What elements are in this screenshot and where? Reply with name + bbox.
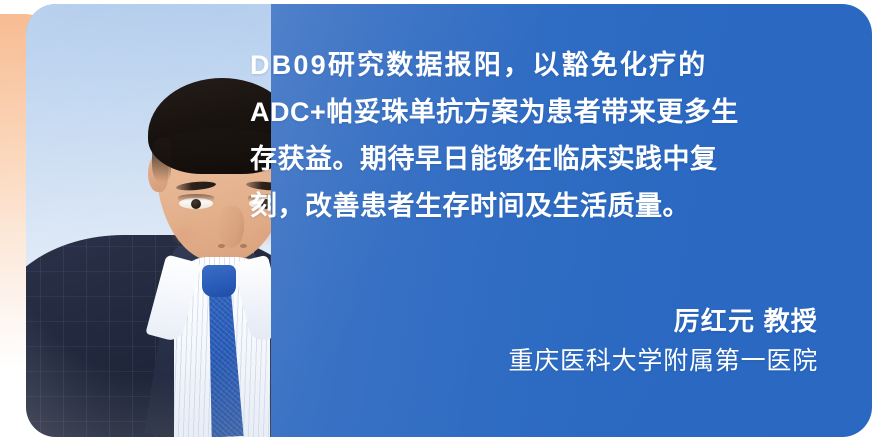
necktie-knot [202,265,236,297]
speaker-name: 厉红元 教授 [244,301,818,341]
content-column: DB09研究数据报阳，以豁免化疗的 ADC+帕妥珠单抗方案为患者带来更多生 存获… [244,4,872,437]
eyebrow-left [176,180,217,191]
quote-text: DB09研究数据报阳，以豁免化疗的 ADC+帕妥珠单抗方案为患者带来更多生 存获… [250,42,842,230]
quote-line-1: DB09研究数据报阳，以豁免化疗的 [250,42,842,89]
speaker-affiliation: 重庆医科大学附属第一医院 [244,341,818,381]
eyelid-left [178,194,214,201]
nose [218,206,244,248]
quote-line-2: ADC+帕妥珠单抗方案为患者带来更多生 [250,89,842,136]
quote-card-banner: DB09研究数据报阳，以豁免化疗的 ADC+帕妥珠单抗方案为患者带来更多生 存获… [0,0,877,441]
sideburn-left [152,138,171,182]
main-blue-card: DB09研究数据报阳，以豁免化疗的 ADC+帕妥珠单抗方案为患者带来更多生 存获… [26,4,872,437]
attribution-block: 厉红元 教授 重庆医科大学附属第一医院 [244,301,842,411]
quote-line-3: 存获益。期待早日能够在临床实践中复 [250,136,842,183]
nostril-left [218,244,225,248]
quote-line-4: 刻，改善患者生存时间及生活质量。 [250,183,842,230]
speaker-portrait-photo [26,4,271,437]
cheek-left [170,222,200,246]
